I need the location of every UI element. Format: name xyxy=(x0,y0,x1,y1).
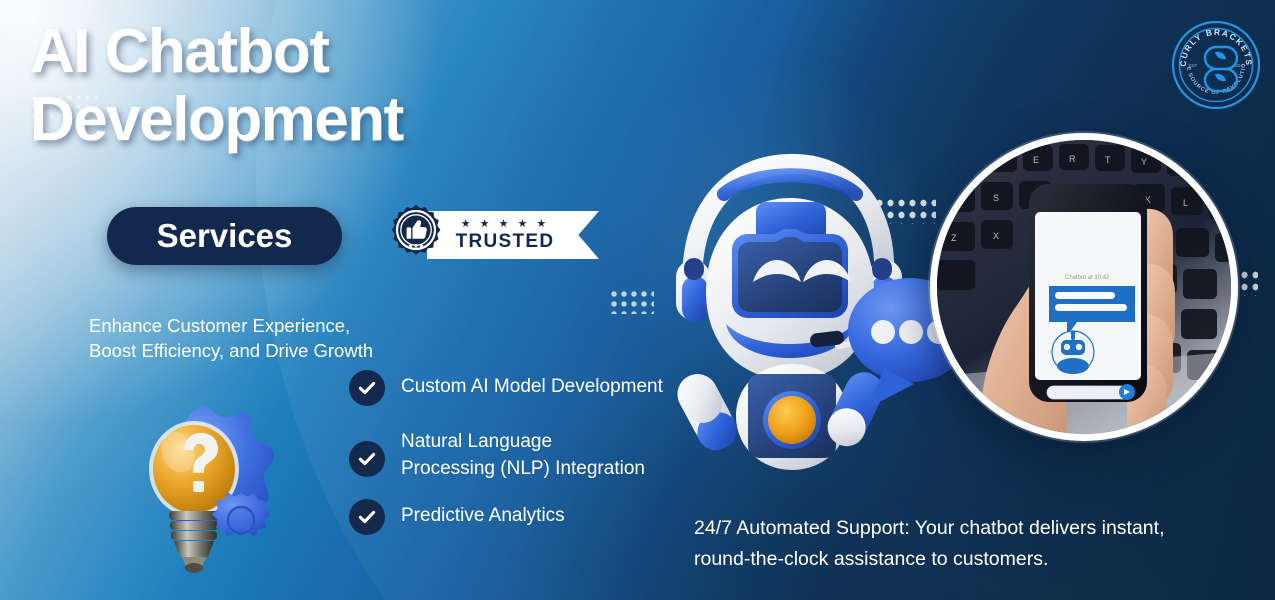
page-title: AI Chatbot Development xyxy=(30,18,730,154)
trusted-label: TRUSTED xyxy=(456,231,555,252)
phone-chat-timestamp: Chatbot at 10:42 xyxy=(1065,275,1110,281)
feature-text: Predictive Analytics xyxy=(401,499,565,529)
feature-text-line1: Natural Language xyxy=(401,428,645,455)
list-item: Predictive Analytics xyxy=(349,499,749,535)
subtitle: Enhance Customer Experience, Boost Effic… xyxy=(89,313,519,363)
svg-text:T: T xyxy=(1105,155,1111,165)
trusted-stars: ★ ★ ★ ★ ★ xyxy=(461,218,550,230)
check-icon xyxy=(349,441,385,477)
svg-text:U: U xyxy=(1177,160,1184,170)
hand-holding-phone-chatbot-photo: Q W E R T Y U I A S D K L Z X . xyxy=(930,133,1238,441)
feature-text-line2: Processing (NLP) Integration xyxy=(401,455,645,482)
subtitle-line2: Boost Efficiency, and Drive Growth xyxy=(89,338,519,363)
page-title-line1: AI Chatbot xyxy=(30,18,730,86)
trusted-badge: ★ ★ ★ ★ ★ TRUSTED xyxy=(385,204,599,266)
check-icon xyxy=(349,499,385,535)
svg-text:L: L xyxy=(1183,198,1188,208)
page-title-line2: Development xyxy=(30,86,730,154)
services-badge: Services xyxy=(107,207,342,265)
svg-text:R: R xyxy=(1069,154,1076,164)
subtitle-line1: Enhance Customer Experience, xyxy=(89,313,519,338)
feature-text-line1: Custom AI Model Development xyxy=(401,373,663,400)
svg-text:S: S xyxy=(993,193,999,203)
svg-text:I: I xyxy=(1211,164,1214,174)
bottom-caption-line1: 24/7 Automated Support: Your chatbot del… xyxy=(694,513,1254,544)
svg-text:W: W xyxy=(997,156,1006,166)
thumbs-up-seal-icon xyxy=(385,204,447,266)
check-icon xyxy=(349,370,385,406)
curly-brackets-logo[interactable]: CURLY BRACKETS THE SOURCE OF REVOLUTION … xyxy=(1172,21,1260,109)
trusted-ribbon: ★ ★ ★ ★ ★ TRUSTED xyxy=(427,211,599,259)
svg-text:Z: Z xyxy=(951,233,957,243)
banner-root: AI Chatbot Development Services ★ ★ ★ ★ … xyxy=(0,0,1275,600)
feature-text: Natural Language Processing (NLP) Integr… xyxy=(401,425,645,482)
svg-text:X: X xyxy=(993,231,999,241)
feature-text-line1: Predictive Analytics xyxy=(401,502,565,529)
bottom-caption-line2: round-the-clock assistance to customers. xyxy=(694,544,1254,575)
logo-left-mark: EST xyxy=(1189,63,1198,68)
services-badge-label: Services xyxy=(157,217,293,255)
lightbulb-question-gear-icon xyxy=(106,398,292,578)
feature-text: Custom AI Model Development xyxy=(401,370,663,400)
svg-text:Y: Y xyxy=(1141,157,1147,167)
bottom-caption: 24/7 Automated Support: Your chatbot del… xyxy=(694,513,1254,575)
svg-text:E: E xyxy=(1033,155,1039,165)
headset-robot-mascot xyxy=(640,140,970,470)
